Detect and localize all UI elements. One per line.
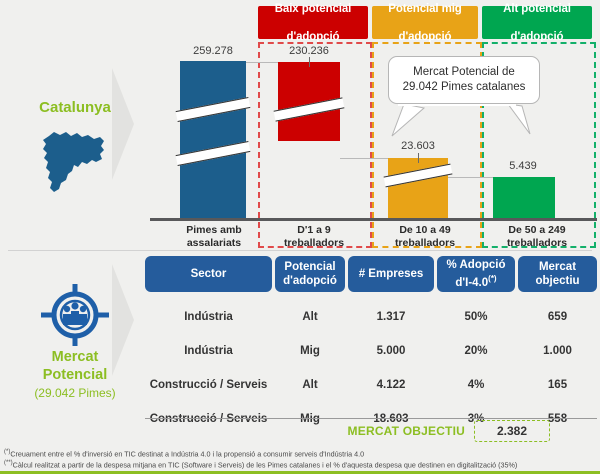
bar-de-50-a-249-treballadors[interactable] <box>493 177 555 218</box>
value-tick-orange <box>418 153 419 163</box>
cell-sector: Indústria <box>145 302 272 332</box>
cell-mercat: 1.000 <box>518 336 597 366</box>
xaxis-label-de50a249: De 50 a 249 treballadors <box>482 224 592 250</box>
chart-section: Baix potencial d'adopció Potencial mig d… <box>0 0 600 248</box>
table-header-potencial-line1: Potencial <box>284 261 335 273</box>
mercat-potencial-panel: Mercat Potencial (29.042 Pimes) <box>0 250 150 440</box>
cell-sector: Construcció / Serveis <box>145 370 272 400</box>
cell-empreses: 5.000 <box>348 336 434 366</box>
callout-line1: Mercat Potencial de <box>413 66 515 78</box>
slide-root: Baix potencial d'adopció Potencial mig d… <box>0 0 600 474</box>
callout-mercat-potencial: Mercat Potencial de 29.042 Pimes catalan… <box>388 56 540 104</box>
table-header-empreses[interactable]: # Empreses <box>348 256 434 292</box>
leader-line-blue-to-red <box>246 62 278 63</box>
value-label-d1a9: 230.236 <box>269 45 349 57</box>
table-header-potencial-line2: d'adopció <box>283 275 337 287</box>
cell-sector: Indústria <box>145 336 272 366</box>
cell-adopcio: 4% <box>437 370 515 400</box>
total-value-box: 2.382 <box>474 420 550 442</box>
table-row[interactable]: Indústria Alt 1.317 50% 659 <box>145 302 597 332</box>
xaxis-label-de10a49-text: De 10 a 49 treballadors <box>395 224 455 249</box>
footnote-2-marker: (**) <box>4 460 13 466</box>
xaxis-label-d1a9: D'1 a 9 treballadors <box>266 224 362 250</box>
table-header-mercat-line2: objectiu <box>535 275 579 287</box>
table-header-row: Sector Potencial d'adopció # Empreses % … <box>145 256 597 292</box>
value-label-de10a49: 23.603 <box>378 140 458 152</box>
leader-line-red-to-orange <box>340 158 388 159</box>
total-label: MERCAT OBJECTIU <box>330 424 465 438</box>
table-row[interactable]: Construcció / Serveis Alt 4.122 4% 165 <box>145 370 597 400</box>
cell-potencial: Alt <box>275 302 345 332</box>
table-header-adopcio[interactable]: % Adopció d'I-4.0(*) <box>437 256 515 292</box>
table-header-sector[interactable]: Sector <box>145 256 272 292</box>
footnote-2: (**)Càlcul realitzat a partir de la desp… <box>4 460 517 469</box>
cell-potencial: Mig <box>275 336 345 366</box>
cell-potencial: Alt <box>275 370 345 400</box>
catalunya-panel: Catalunya <box>0 0 150 248</box>
footnote-2-text: Càlcul realitzat a partir de la despesa … <box>13 460 518 469</box>
table-header-mercat-line1: Mercat <box>539 261 576 273</box>
catalonia-map-icon <box>30 124 120 196</box>
table-header-adopcio-footnote-marker: (*) <box>488 274 496 283</box>
mercat-potencial-subtitle: (29.042 Pimes) <box>0 386 150 400</box>
cell-mercat: 659 <box>518 302 597 332</box>
mercat-potencial-title-line1: Mercat <box>52 349 99 365</box>
xaxis-label-pimes-text: Pimes amb assalariats <box>186 224 241 249</box>
xaxis-label-d1a9-text: D'1 a 9 treballadors <box>284 224 344 249</box>
value-label-pimes: 259.278 <box>173 45 253 57</box>
chart-baseline-axis <box>150 218 597 221</box>
cell-empreses: 1.317 <box>348 302 434 332</box>
callout-tails <box>380 100 560 140</box>
table-row[interactable]: Indústria Mig 5.000 20% 1.000 <box>145 336 597 366</box>
callout-line2: 29.042 Pimes catalanes <box>403 81 526 93</box>
footnote-1-text: Creuament entre el % d'inversió en TIC d… <box>10 449 364 458</box>
flow-arrow-top-icon <box>112 68 146 180</box>
value-label-de50a249: 5.439 <box>483 160 563 172</box>
bar-pimes-amb-assalariats[interactable] <box>180 61 246 218</box>
mercat-potencial-title-line2: Potencial <box>43 367 107 383</box>
table-header-potencial[interactable]: Potencial d'adopció <box>275 256 345 292</box>
table-body: Indústria Alt 1.317 50% 659 Indústria Mi… <box>145 292 597 434</box>
table-total-rule <box>145 418 597 419</box>
table-header-adopcio-line2: d'I-4.0 <box>455 277 488 289</box>
table-header-mercat[interactable]: Mercat objectiu <box>518 256 597 292</box>
table-header-adopcio-line1: % Adopció <box>447 259 506 271</box>
xaxis-label-de50a249-text: De 50 a 249 treballadors <box>507 224 567 249</box>
cell-adopcio: 50% <box>437 302 515 332</box>
cell-sector: Construcció / Serveis <box>145 404 272 434</box>
target-people-icon <box>41 284 109 346</box>
cell-adopcio: 20% <box>437 336 515 366</box>
cell-empreses: 4.122 <box>348 370 434 400</box>
flow-arrow-bottom-icon <box>112 264 146 376</box>
xaxis-label-pimes: Pimes amb assalariats <box>168 224 260 250</box>
mercat-objectiu-table: Sector Potencial d'adopció # Empreses % … <box>145 256 597 438</box>
leader-line-orange-to-green <box>448 177 493 178</box>
cell-mercat: 165 <box>518 370 597 400</box>
value-tick-red <box>309 57 310 67</box>
xaxis-label-de10a49: De 10 a 49 treballadors <box>374 224 476 250</box>
footnote-1: (*)Creuament entre el % d'inversió en TI… <box>4 449 364 458</box>
